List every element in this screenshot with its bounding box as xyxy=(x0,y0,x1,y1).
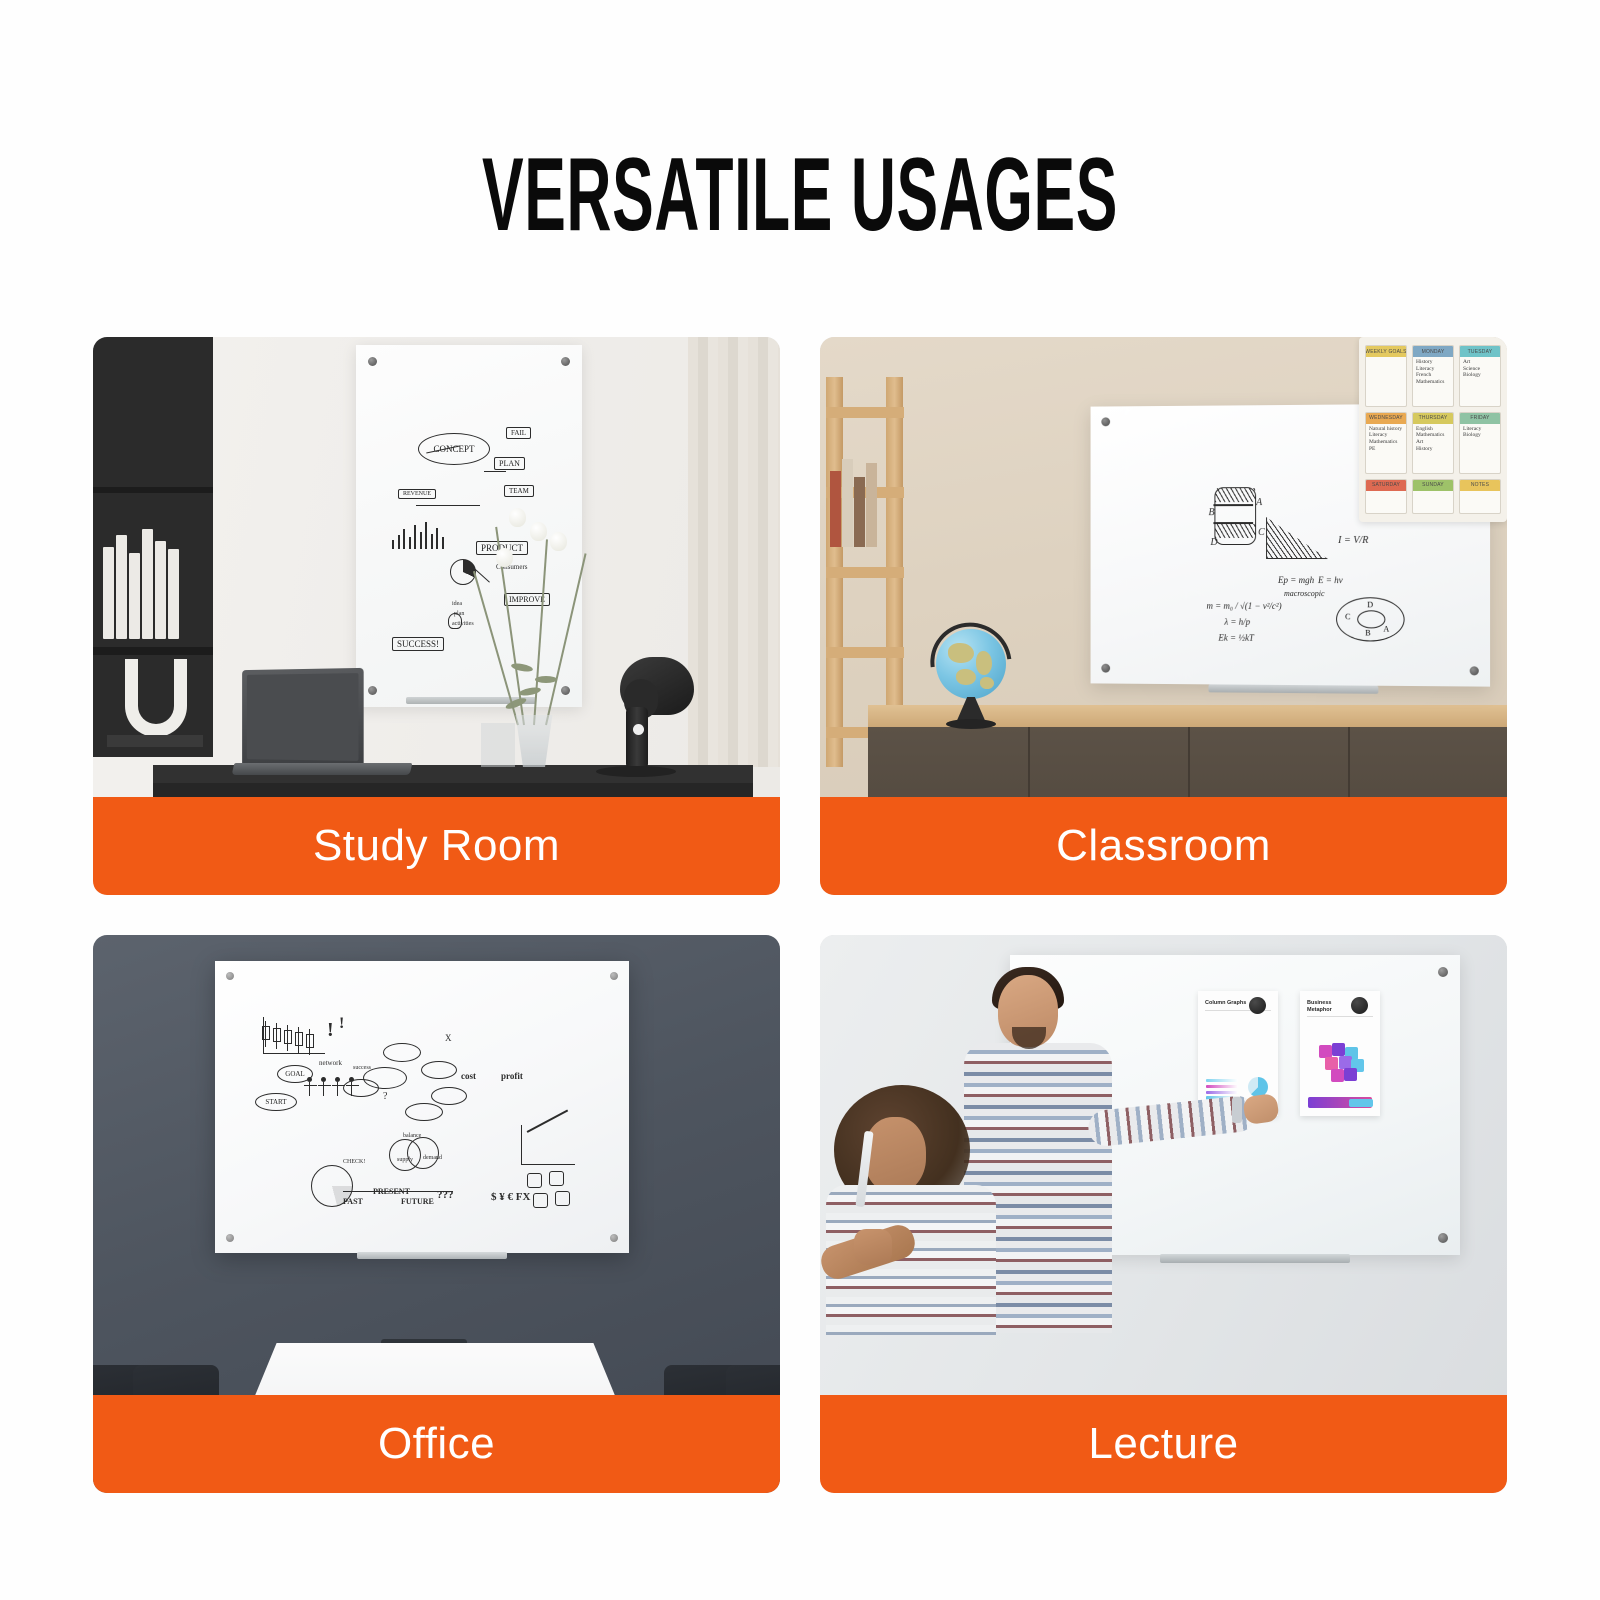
axis-x xyxy=(263,1053,325,1054)
schedule-cell-header: SATURDAY xyxy=(1366,480,1406,491)
schedule-cell: WEDNESDAYNatural historyLiteracyMathemat… xyxy=(1365,412,1407,474)
schedule-cell-body: EnglishMathematicsArtHistory xyxy=(1413,424,1453,454)
schedule-entry: History xyxy=(1416,359,1450,366)
schedule-entry: Natural history xyxy=(1369,426,1403,433)
schedule-cell-body: HistoryLiteracyFrenchMathematics xyxy=(1413,357,1453,387)
caption-bar-study-room: Study Room xyxy=(93,797,780,895)
standoff-screw-icon xyxy=(1101,664,1110,673)
schedule-cell-header: MONDAY xyxy=(1413,346,1453,357)
note: X xyxy=(445,1033,452,1043)
note: profit xyxy=(501,1071,523,1081)
poster-title: Business Metaphor xyxy=(1307,1000,1351,1013)
venn-b xyxy=(407,1137,439,1169)
ladder-rung xyxy=(826,647,904,658)
sketch-bar-chart xyxy=(392,515,448,549)
disk-label-D: D xyxy=(1367,600,1373,609)
book xyxy=(129,553,140,639)
book xyxy=(866,463,877,547)
schedule-cell-header: THURSDAY xyxy=(1413,413,1453,424)
schedule-cell-header: TUESDAY xyxy=(1460,346,1500,357)
sketch-stickfigures xyxy=(307,1069,365,1109)
page-title: VERSATILE USAGES xyxy=(320,140,1280,250)
schedule-entry: Mathematics xyxy=(1416,379,1450,386)
standoff-screw-icon xyxy=(610,972,618,980)
bar xyxy=(398,535,400,549)
schedule-entry: French xyxy=(1416,372,1450,379)
schedule-cell: SATURDAY xyxy=(1365,479,1407,514)
disk-label-B: B xyxy=(1365,628,1370,637)
magnet-icon xyxy=(1351,997,1368,1014)
puzzle-piece xyxy=(1344,1068,1357,1081)
schedule-cell-body xyxy=(1460,491,1500,495)
desk-lamp-base xyxy=(596,766,676,777)
book xyxy=(155,541,166,639)
landmass xyxy=(976,651,992,675)
sketch-graph xyxy=(1266,517,1328,559)
book xyxy=(830,471,841,547)
candle xyxy=(295,1032,303,1046)
glass-whiteboard[interactable]: GOALSTARTnetworksuccessX?profitcostCHECK… xyxy=(215,961,629,1253)
laptop-screen xyxy=(242,668,364,766)
note-start: START xyxy=(255,1093,297,1111)
standoff-screw-icon xyxy=(226,1234,234,1242)
note-concept: CONCEPT xyxy=(418,433,490,465)
note: I = V/R xyxy=(1338,535,1368,546)
puzzle-piece xyxy=(1332,1043,1345,1056)
schedule-cell: SUNDAY xyxy=(1412,479,1454,514)
schedule-entry: Science xyxy=(1463,366,1497,373)
bar xyxy=(442,537,444,549)
candle xyxy=(273,1028,281,1042)
note: ! xyxy=(339,1015,344,1033)
u-sculpture xyxy=(125,659,187,737)
landmass xyxy=(956,669,976,685)
attendee-hand xyxy=(854,1229,892,1265)
arms xyxy=(304,1085,317,1086)
note-relativity: m = m₀ / √(1 − v²/c²) xyxy=(1207,601,1282,611)
hatch xyxy=(1215,524,1255,538)
poster-title: Column Graphs xyxy=(1205,1000,1249,1007)
divider xyxy=(1214,504,1254,506)
schedule-cell: WEEKLY GOALS xyxy=(1365,345,1407,407)
schedule-cell-header: FRIDAY xyxy=(1460,413,1500,424)
caption-label: Office xyxy=(378,1419,495,1469)
schedule-entry: History xyxy=(1416,446,1450,453)
candle xyxy=(284,1030,292,1044)
tulip-bloom xyxy=(550,532,567,551)
schedule-cell: TUESDAYArtScienceBiology xyxy=(1459,345,1501,407)
note: $ ¥ € FX xyxy=(491,1191,530,1203)
standoff-screw-icon xyxy=(226,972,234,980)
puzzle-piece xyxy=(533,1193,548,1208)
puzzle-graphic xyxy=(1315,1043,1365,1083)
schedule-entry: Literacy xyxy=(1369,432,1403,439)
puzzle-piece xyxy=(549,1171,564,1186)
note- xyxy=(405,1103,443,1121)
marker-tray xyxy=(1208,684,1378,693)
book xyxy=(103,547,114,639)
note-team: TEAM xyxy=(504,485,534,497)
note-idea: idea xyxy=(452,601,462,607)
connector xyxy=(484,471,506,472)
bar xyxy=(403,529,405,549)
schedule-entry: Mathematics xyxy=(1416,432,1450,439)
desk-lamp-button[interactable] xyxy=(633,724,644,735)
bar xyxy=(436,528,438,549)
caption-bar-office: Office xyxy=(93,1395,780,1493)
tulip-bloom xyxy=(509,508,526,527)
note-fail: FAIL xyxy=(506,427,531,439)
landmass xyxy=(948,643,974,663)
arms xyxy=(346,1085,359,1086)
bar xyxy=(420,532,422,549)
hub xyxy=(1357,610,1385,628)
book xyxy=(168,549,179,639)
sculpture-base xyxy=(107,735,203,747)
usage-grid: CONCEPTFAILPLANTEAMREVENUEPRODUCTConsume… xyxy=(93,337,1507,1493)
caption-label: Lecture xyxy=(1088,1419,1238,1469)
marketing-image: VERSATILE USAGES CONC xyxy=(0,0,1600,1600)
standoff-screw-icon xyxy=(561,357,570,366)
standoff-screw-icon xyxy=(368,357,377,366)
schedule-cell-header: SUNDAY xyxy=(1413,480,1453,491)
shelf-books xyxy=(103,497,183,639)
poster-business-metaphor[interactable]: Business Metaphor xyxy=(1300,991,1380,1116)
note-success!: SUCCESS! xyxy=(392,637,444,651)
schedule-entry: Art xyxy=(1416,439,1450,446)
note- xyxy=(431,1087,467,1105)
standoff-screw-icon xyxy=(368,686,377,695)
disk-label-A: A xyxy=(1383,624,1389,633)
sketch-disk: ABCD xyxy=(1336,597,1405,642)
schedule-cell-body: Natural historyLiteracyMathematicsPE xyxy=(1366,424,1406,454)
bar xyxy=(425,522,427,549)
book xyxy=(116,535,127,639)
note: FUTURE xyxy=(401,1197,434,1206)
shelf-divider xyxy=(93,487,213,493)
schedule-cell-header: WEEKLY GOALS xyxy=(1366,346,1406,357)
usage-card-office[interactable]: GOALSTARTnetworksuccessX?profitcostCHECK… xyxy=(93,935,780,1493)
bar xyxy=(392,540,394,549)
arms xyxy=(318,1085,331,1086)
sketch-cylinder xyxy=(1214,487,1256,545)
note: macroscopic xyxy=(1284,589,1325,598)
arms xyxy=(332,1085,345,1086)
book xyxy=(142,529,153,639)
leaf xyxy=(535,676,557,683)
standoff-screw-icon xyxy=(1438,967,1448,977)
wall-schedule-chart: WEEKLY GOALSMONDAYHistoryLiteracyFrenchM… xyxy=(1359,337,1507,522)
wristwatch xyxy=(1232,1097,1242,1123)
schedule-cell: THURSDAYEnglishMathematicsArtHistory xyxy=(1412,412,1454,474)
marker-tray xyxy=(357,1252,507,1259)
connector xyxy=(416,505,480,506)
caption-label: Study Room xyxy=(313,821,560,871)
schedule-cell: FRIDAYLiteracyBiology xyxy=(1459,412,1501,474)
note: network xyxy=(319,1059,342,1067)
laptop-bezel xyxy=(247,673,359,761)
poster-cta-chip xyxy=(1349,1099,1373,1107)
globe xyxy=(936,629,1006,699)
divider xyxy=(1307,1016,1373,1017)
note-lambda: λ = h/p xyxy=(1224,617,1250,627)
timeline-axis xyxy=(343,1191,453,1192)
shelf-divider-2 xyxy=(93,647,213,655)
note- xyxy=(421,1061,457,1079)
schedule-cell-header: NOTES xyxy=(1460,480,1500,491)
note: Ek = ½kT xyxy=(1218,633,1254,643)
puzzle-piece xyxy=(527,1173,542,1188)
bar xyxy=(431,534,433,549)
book xyxy=(854,477,865,547)
curtain xyxy=(688,337,780,767)
legend-swatch xyxy=(1206,1091,1238,1094)
usage-card-classroom[interactable]: E = mc²ABCDI = V/REp = mghE = hνmacrosco… xyxy=(820,337,1507,895)
schedule-cell-body: ArtScienceBiology xyxy=(1460,357,1500,381)
landmass xyxy=(980,677,994,689)
standoff-screw-icon xyxy=(1470,666,1479,675)
bar xyxy=(414,525,416,549)
standoff-screw-icon xyxy=(610,1234,618,1242)
bar xyxy=(409,537,411,549)
schedule-entry: Literacy xyxy=(1463,426,1497,433)
schedule-entry: Mathematics xyxy=(1369,439,1403,446)
note: CHECK! xyxy=(343,1159,365,1165)
schedule-cell-body: LiteracyBiology xyxy=(1460,424,1500,441)
note: cost xyxy=(461,1071,476,1081)
schedule-entry: Biology xyxy=(1463,432,1497,439)
note: A xyxy=(1256,497,1262,508)
schedule-cell-body xyxy=(1413,491,1453,495)
note-plan: PLAN xyxy=(494,457,525,470)
tulip-bloom xyxy=(496,548,513,567)
tulip-bloom xyxy=(530,522,547,541)
desk-lamp-stem xyxy=(626,707,648,769)
caption-bar-lecture: Lecture xyxy=(820,1395,1507,1493)
schedule-entry: English xyxy=(1416,426,1450,433)
glass-whiteboard[interactable]: CONCEPTFAILPLANTEAMREVENUEPRODUCTConsume… xyxy=(356,345,582,707)
note: ! xyxy=(327,1019,334,1042)
magnet-icon xyxy=(1249,997,1266,1014)
sketch-candles xyxy=(265,1017,321,1051)
note-revenue: REVENUE xyxy=(398,489,436,499)
schedule-cell-body xyxy=(1366,491,1406,495)
laptop-keyboard xyxy=(232,763,413,775)
ladder-rung xyxy=(826,407,904,418)
candle xyxy=(306,1034,314,1048)
note: ? xyxy=(383,1091,387,1102)
globe-base xyxy=(946,719,996,729)
schedule-entry: Biology xyxy=(1463,372,1497,379)
hatch xyxy=(1215,488,1255,502)
note- xyxy=(383,1043,421,1062)
puzzle-piece xyxy=(555,1191,570,1206)
caption-label: Classroom xyxy=(1056,821,1271,871)
caption-bar-classroom: Classroom xyxy=(820,797,1507,895)
note: Ep = mgh xyxy=(1278,575,1314,585)
bulb-icon xyxy=(448,613,462,629)
legend-swatch xyxy=(1206,1079,1238,1082)
standoff-screw-icon xyxy=(1438,1233,1448,1243)
schedule-cell-body xyxy=(1366,357,1406,361)
glass-vase-small xyxy=(481,723,515,767)
schedule-cell: MONDAYHistoryLiteracyFrenchMathematics xyxy=(1412,345,1454,407)
book xyxy=(842,459,853,547)
schedule-cell: NOTES xyxy=(1459,479,1501,514)
note: C xyxy=(1258,527,1265,538)
puzzle-piece xyxy=(1331,1069,1344,1082)
shelf-books xyxy=(830,447,876,547)
usage-card-study-room[interactable]: CONCEPTFAILPLANTEAMREVENUEPRODUCTConsume… xyxy=(93,337,780,895)
marker-tray xyxy=(1160,1254,1350,1263)
note: E = hν xyxy=(1318,575,1343,585)
schedule-entry: PE xyxy=(1369,446,1403,453)
axis-y xyxy=(263,1017,264,1053)
schedule-entry: Literacy xyxy=(1416,366,1450,373)
poster-bar-chart xyxy=(1206,1039,1270,1073)
disk-label-C: C xyxy=(1345,612,1350,621)
schedule-cell-header: WEDNESDAY xyxy=(1366,413,1406,424)
schedule-entry: Art xyxy=(1463,359,1497,366)
usage-card-lecture[interactable]: Column Graphs Business Metaphor xyxy=(820,935,1507,1493)
ladder-rung xyxy=(826,567,904,578)
standoff-screw-icon xyxy=(561,686,570,695)
legend-swatch xyxy=(1206,1085,1238,1088)
attendee-head xyxy=(864,1117,926,1193)
sketch-pie xyxy=(311,1165,353,1207)
standoff-screw-icon xyxy=(1101,417,1110,426)
